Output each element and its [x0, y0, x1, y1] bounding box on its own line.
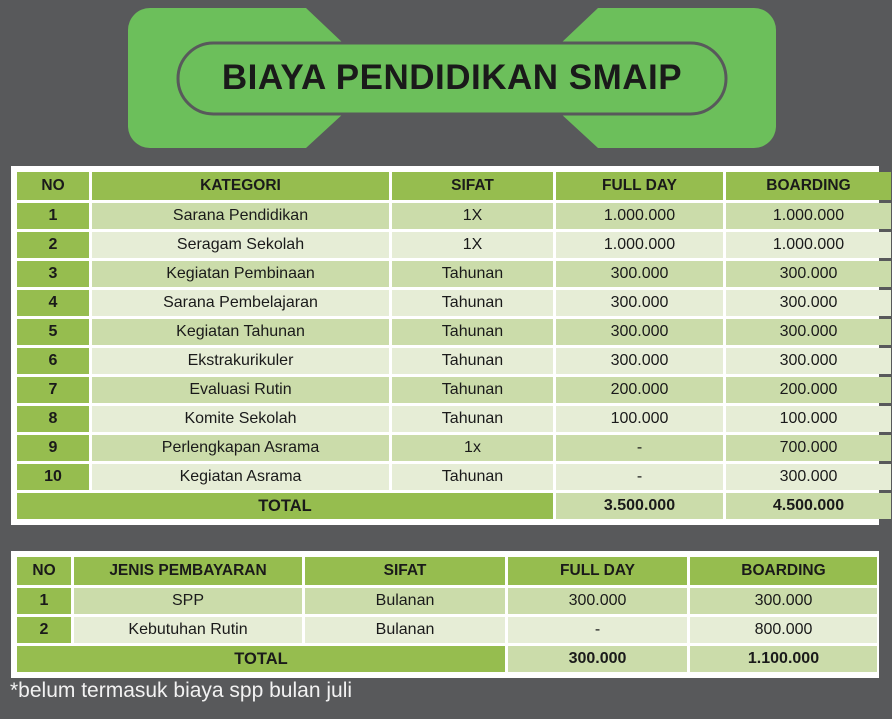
- cell-kategori: Perlengkapan Asrama: [92, 435, 389, 461]
- table-row: 4 Sarana Pembelajaran Tahunan 300.000 30…: [17, 290, 891, 316]
- cell-jenis: Kebutuhan Rutin: [74, 617, 302, 643]
- cell-sifat: 1X: [392, 232, 553, 258]
- column-header-kategori: KATEGORI: [92, 172, 389, 200]
- column-header-full-day: FULL DAY: [508, 557, 687, 585]
- cell-sifat: 1X: [392, 203, 553, 229]
- cost-table-monthly: NO JENIS PEMBAYARAN SIFAT FULL DAY BOARD…: [11, 551, 879, 678]
- cell-full-day: 100.000: [556, 406, 723, 432]
- column-header-no: NO: [17, 172, 89, 200]
- cell-no: 10: [17, 464, 89, 490]
- cell-no: 4: [17, 290, 89, 316]
- column-header-full-day: FULL DAY: [556, 172, 723, 200]
- cell-full-day: -: [508, 617, 687, 643]
- cell-sifat: Tahunan: [392, 290, 553, 316]
- cell-kategori: Sarana Pendidikan: [92, 203, 389, 229]
- total-full-day: 300.000: [508, 646, 687, 672]
- cell-no: 9: [17, 435, 89, 461]
- cell-kategori: Kegiatan Asrama: [92, 464, 389, 490]
- total-full-day: 3.500.000: [556, 493, 723, 519]
- cell-jenis: SPP: [74, 588, 302, 614]
- cell-sifat: Tahunan: [392, 348, 553, 374]
- table-row: 7 Evaluasi Rutin Tahunan 200.000 200.000: [17, 377, 891, 403]
- cell-boarding: 300.000: [726, 290, 891, 316]
- total-label: TOTAL: [17, 493, 553, 519]
- cost-table-main: NO KATEGORI SIFAT FULL DAY BOARDING 1 Sa…: [11, 166, 879, 525]
- banner: BIAYA PENDIDIKAN SMAIP: [128, 8, 776, 148]
- table-row: 1 Sarana Pendidikan 1X 1.000.000 1.000.0…: [17, 203, 891, 229]
- cell-kategori: Kegiatan Tahunan: [92, 319, 389, 345]
- cell-kategori: Evaluasi Rutin: [92, 377, 389, 403]
- cell-kategori: Ekstrakurikuler: [92, 348, 389, 374]
- cell-full-day: 1.000.000: [556, 232, 723, 258]
- cell-no: 1: [17, 588, 71, 614]
- cell-boarding: 300.000: [726, 464, 891, 490]
- cell-no: 8: [17, 406, 89, 432]
- cell-boarding: 200.000: [726, 377, 891, 403]
- cell-no: 2: [17, 232, 89, 258]
- footnote-text: *belum termasuk biaya spp bulan juli: [10, 679, 352, 703]
- cell-sifat: 1x: [392, 435, 553, 461]
- cell-no: 3: [17, 261, 89, 287]
- table-header-row: NO KATEGORI SIFAT FULL DAY BOARDING: [17, 172, 891, 200]
- cell-full-day: 300.000: [556, 261, 723, 287]
- total-boarding: 1.100.000: [690, 646, 877, 672]
- cell-boarding: 800.000: [690, 617, 877, 643]
- cell-full-day: 300.000: [556, 290, 723, 316]
- cell-full-day: 300.000: [556, 319, 723, 345]
- cell-full-day: 1.000.000: [556, 203, 723, 229]
- cell-full-day: 300.000: [556, 348, 723, 374]
- cell-full-day: -: [556, 435, 723, 461]
- cell-full-day: -: [556, 464, 723, 490]
- column-header-sifat: SIFAT: [305, 557, 505, 585]
- cell-sifat: Bulanan: [305, 588, 505, 614]
- cell-no: 6: [17, 348, 89, 374]
- table-header-row: NO JENIS PEMBAYARAN SIFAT FULL DAY BOARD…: [17, 557, 877, 585]
- table-row: 8 Komite Sekolah Tahunan 100.000 100.000: [17, 406, 891, 432]
- cell-kategori: Seragam Sekolah: [92, 232, 389, 258]
- table-total-row: TOTAL 300.000 1.100.000: [17, 646, 877, 672]
- cell-sifat: Tahunan: [392, 261, 553, 287]
- column-header-no: NO: [17, 557, 71, 585]
- table-row: 10 Kegiatan Asrama Tahunan - 300.000: [17, 464, 891, 490]
- cell-sifat: Tahunan: [392, 319, 553, 345]
- column-header-sifat: SIFAT: [392, 172, 553, 200]
- cell-kategori: Sarana Pembelajaran: [92, 290, 389, 316]
- cell-no: 2: [17, 617, 71, 643]
- column-header-boarding: BOARDING: [726, 172, 891, 200]
- cell-boarding: 300.000: [726, 348, 891, 374]
- total-label: TOTAL: [17, 646, 505, 672]
- cell-full-day: 300.000: [508, 588, 687, 614]
- cell-no: 7: [17, 377, 89, 403]
- column-header-jenis-pembayaran: JENIS PEMBAYARAN: [74, 557, 302, 585]
- cell-full-day: 200.000: [556, 377, 723, 403]
- cell-sifat: Bulanan: [305, 617, 505, 643]
- table-row: 2 Kebutuhan Rutin Bulanan - 800.000: [17, 617, 877, 643]
- cell-boarding: 300.000: [726, 261, 891, 287]
- cell-boarding: 300.000: [690, 588, 877, 614]
- cell-no: 1: [17, 203, 89, 229]
- table-total-row: TOTAL 3.500.000 4.500.000: [17, 493, 891, 519]
- cell-boarding: 700.000: [726, 435, 891, 461]
- table-row: 2 Seragam Sekolah 1X 1.000.000 1.000.000: [17, 232, 891, 258]
- table-row: 5 Kegiatan Tahunan Tahunan 300.000 300.0…: [17, 319, 891, 345]
- cell-boarding: 1.000.000: [726, 232, 891, 258]
- cell-boarding: 100.000: [726, 406, 891, 432]
- table-row: 6 Ekstrakurikuler Tahunan 300.000 300.00…: [17, 348, 891, 374]
- cell-no: 5: [17, 319, 89, 345]
- cell-boarding: 1.000.000: [726, 203, 891, 229]
- total-boarding: 4.500.000: [726, 493, 891, 519]
- cell-kategori: Kegiatan Pembinaan: [92, 261, 389, 287]
- cell-sifat: Tahunan: [392, 406, 553, 432]
- cell-sifat: Tahunan: [392, 464, 553, 490]
- cell-boarding: 300.000: [726, 319, 891, 345]
- table-row: 1 SPP Bulanan 300.000 300.000: [17, 588, 877, 614]
- cell-sifat: Tahunan: [392, 377, 553, 403]
- table-row: 3 Kegiatan Pembinaan Tahunan 300.000 300…: [17, 261, 891, 287]
- banner-ribbon-shape: [128, 8, 776, 148]
- cell-kategori: Komite Sekolah: [92, 406, 389, 432]
- column-header-boarding: BOARDING: [690, 557, 877, 585]
- table-row: 9 Perlengkapan Asrama 1x - 700.000: [17, 435, 891, 461]
